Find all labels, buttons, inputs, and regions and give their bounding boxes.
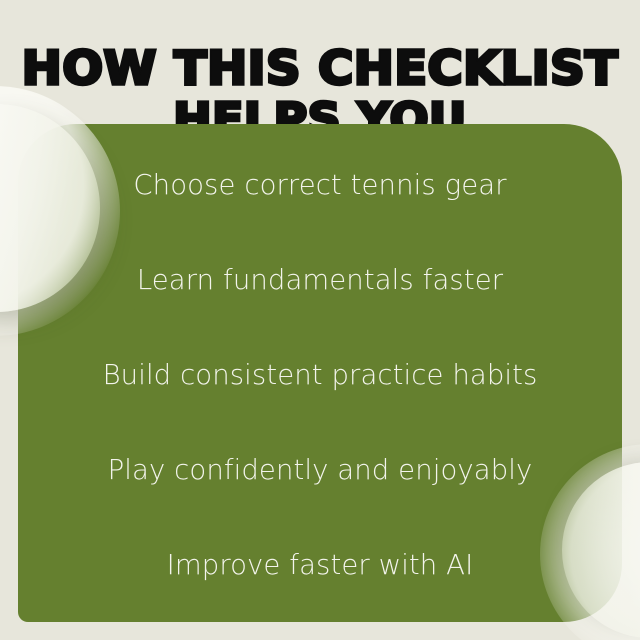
list-item: Improve faster with AI [18,548,622,582]
list-item: Learn fundamentals faster [18,263,622,297]
list-item: Play confidently and enjoyably [18,453,622,487]
page-title-line-1: HOW THIS CHECKLIST [0,43,640,94]
poster-canvas: HOW THIS CHECKLIST HELPS YOU Choose corr… [0,0,640,640]
list-item: Build consistent practice habits [18,358,622,392]
